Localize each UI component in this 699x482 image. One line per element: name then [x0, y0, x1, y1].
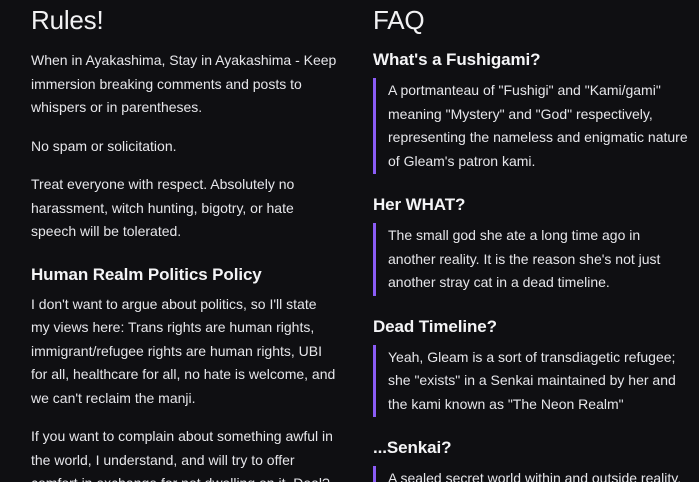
rule-paragraph: Treat everyone with respect. Absolutely …: [31, 173, 338, 244]
faq-answer-block: A portmanteau of "Fushigi" and "Kami/gam…: [373, 78, 690, 174]
politics-paragraph: If you want to complain about something …: [31, 425, 338, 482]
faq-question: Dead Timeline?: [373, 316, 690, 338]
faq-answer-block: A sealed secret world within and outside…: [373, 466, 690, 482]
page-root: Rules! When in Ayakashima, Stay in Ayaka…: [0, 0, 699, 482]
faq-question: What's a Fushigami?: [373, 49, 690, 71]
faq-answer-text: A portmanteau of "Fushigi" and "Kami/gam…: [388, 79, 690, 173]
politics-paragraph: I don't want to argue about politics, so…: [31, 293, 338, 411]
politics-policy-heading: Human Realm Politics Policy: [31, 264, 338, 286]
rules-column: Rules! When in Ayakashima, Stay in Ayaka…: [0, 0, 360, 482]
faq-answer-block: The small god she ate a long time ago in…: [373, 223, 690, 296]
faq-answer-text: Yeah, Gleam is a sort of transdiagetic r…: [388, 346, 690, 417]
faq-column: FAQ What's a Fushigami? A portmanteau of…: [360, 0, 699, 482]
rule-paragraph: When in Ayakashima, Stay in Ayakashima -…: [31, 49, 338, 120]
faq-answer-block: Yeah, Gleam is a sort of transdiagetic r…: [373, 345, 690, 418]
rules-title: Rules!: [31, 5, 338, 35]
faq-question: ...Senkai?: [373, 437, 690, 459]
rule-paragraph: No spam or solicitation.: [31, 135, 338, 159]
faq-answer-text: A sealed secret world within and outside…: [388, 467, 690, 482]
faq-answer-text: The small god she ate a long time ago in…: [388, 224, 690, 295]
faq-question: Her WHAT?: [373, 194, 690, 216]
faq-title: FAQ: [373, 5, 690, 35]
